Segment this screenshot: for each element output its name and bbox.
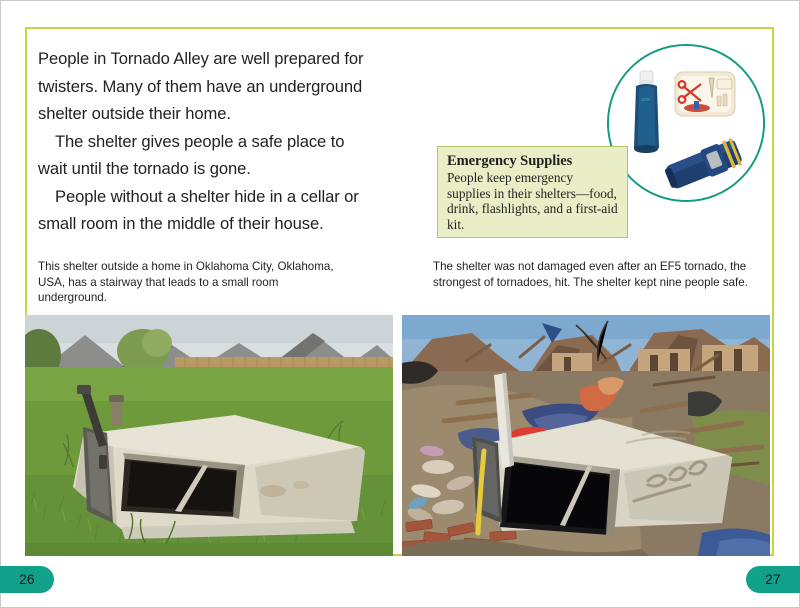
emergency-supplies-photo — [607, 44, 765, 202]
book-spread: People in Tornado Alley are well prepare… — [0, 0, 800, 608]
page-number-right: 27 — [746, 566, 800, 593]
body-paragraph-1: People in Tornado Alley are well prepare… — [38, 45, 368, 128]
body-paragraph-3: People without a shelter hide in a cella… — [38, 183, 368, 238]
first-aid-kit-icon — [675, 72, 735, 116]
callout-text: People keep emergency supplies in their … — [447, 170, 618, 232]
body-copy: People in Tornado Alley are well prepare… — [38, 45, 368, 238]
emergency-supplies-callout: Emergency Supplies People keep emergency… — [437, 146, 628, 238]
photo-shelter-backyard — [25, 315, 393, 556]
caption-left: This shelter outside a home in Oklahoma … — [38, 259, 338, 306]
page-number-left: 26 — [0, 566, 54, 593]
photo-shelter-debris — [402, 315, 770, 556]
callout-title: Emergency Supplies — [447, 153, 618, 169]
caption-right: The shelter was not damaged even after a… — [433, 259, 753, 290]
body-paragraph-2: The shelter gives people a safe place to… — [38, 128, 368, 183]
